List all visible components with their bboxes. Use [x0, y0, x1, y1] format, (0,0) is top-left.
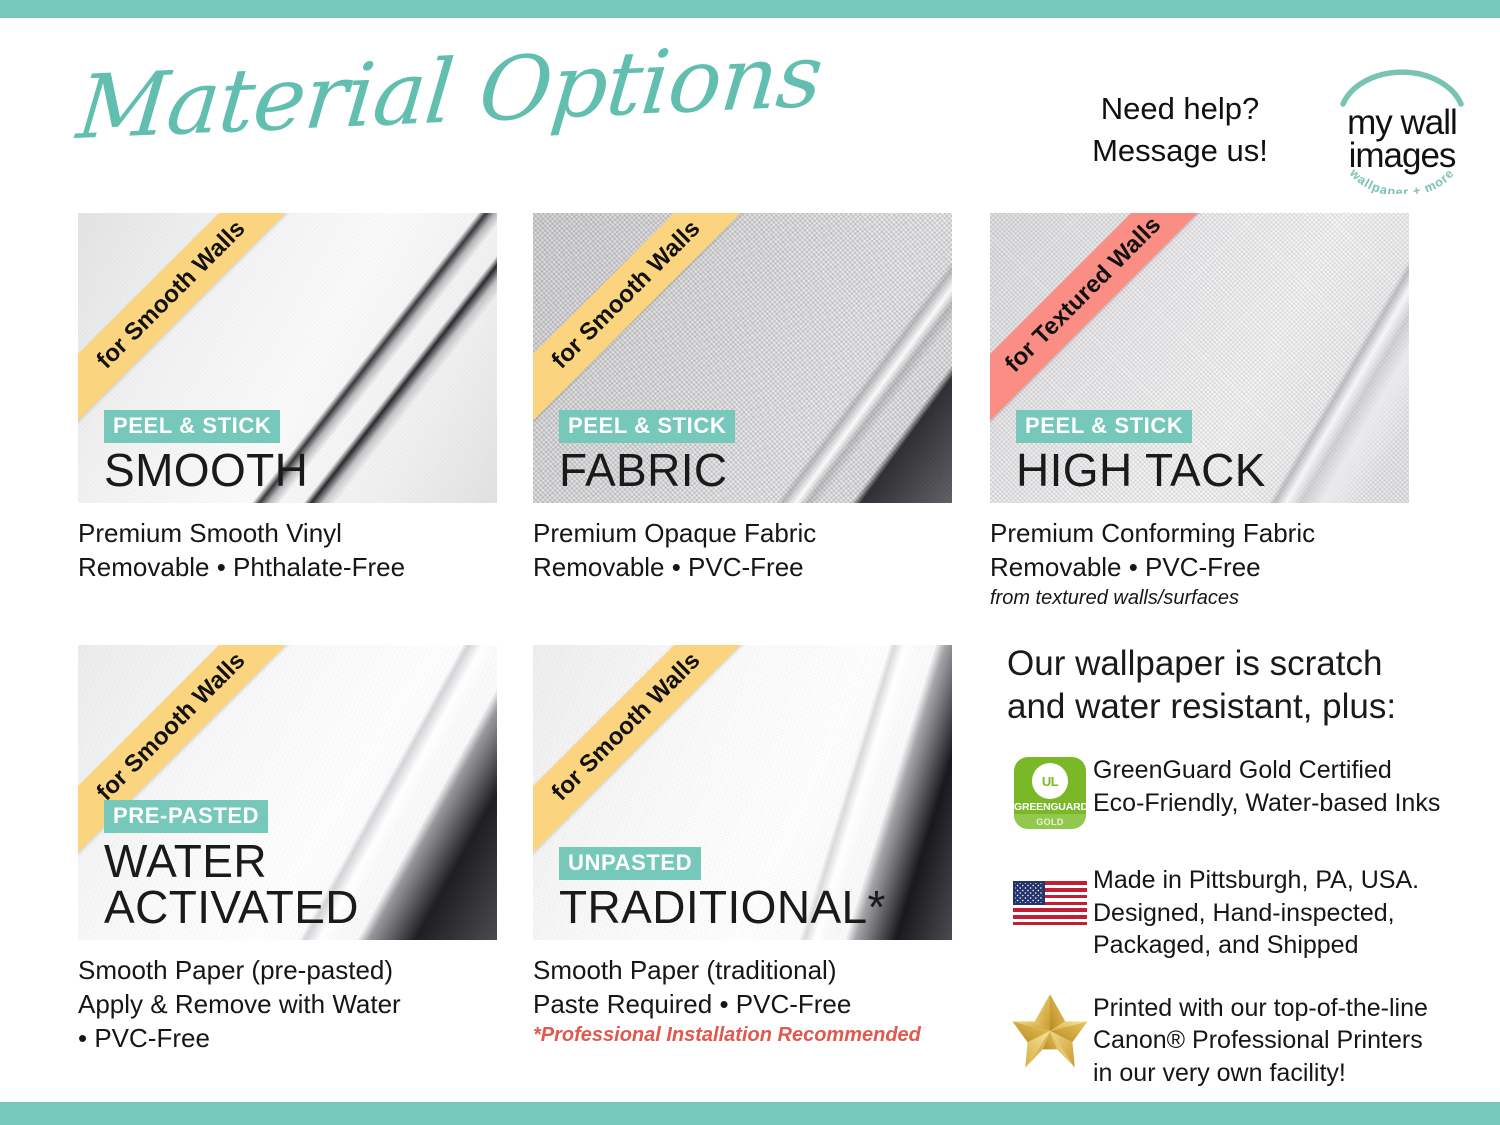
corner-ribbon-label: for Smooth Walls: [91, 215, 251, 375]
features-panel: Our wallpaper is scratch and water resis…: [1007, 643, 1467, 1117]
page-header: Material Options Need help? Message us! …: [0, 18, 1500, 203]
help-line-1: Need help?: [1055, 88, 1305, 130]
card-desc-line-1: Premium Conforming Fabric: [990, 517, 1409, 551]
feature-text: Printed with our top-of-the-line Canon® …: [1093, 990, 1428, 1090]
material-name: WATER ACTIVATED: [104, 838, 359, 930]
card-media-labels: PEEL & STICK HIGH TACK: [1016, 410, 1266, 493]
brand-logo: my wall images wallpaper + more: [1327, 54, 1477, 194]
material-card-fabric[interactable]: for Smooth Walls PEEL & STICK FABRIC Pre…: [533, 213, 952, 585]
feature-line-1: Made in Pittsburgh, PA, USA.: [1093, 864, 1419, 897]
card-desc-line-2: Removable • Phthalate-Free: [78, 551, 497, 585]
us-flag-icon: [1007, 862, 1093, 944]
material-card-smooth[interactable]: for Smooth Walls PEEL & STICK SMOOTH Pre…: [78, 213, 497, 585]
card-swatch-image: for Smooth Walls PEEL & STICK SMOOTH: [78, 213, 497, 503]
material-card-water-activated[interactable]: for Smooth Walls PRE-PASTED WATER ACTIVA…: [78, 645, 497, 1055]
material-name-line-1: WATER: [104, 838, 359, 884]
card-desc-line-1: Premium Smooth Vinyl: [78, 517, 497, 551]
greenguard-tier-label: GOLD: [1036, 817, 1064, 827]
corner-ribbon-label: for Textured Walls: [999, 213, 1166, 378]
corner-ribbon: for Textured Walls: [990, 213, 1216, 428]
feature-item-greenguard: UL GREENGUARD GOLD GreenGuard Gold Certi…: [1007, 752, 1467, 834]
card-swatch-image: for Smooth Walls PEEL & STICK FABRIC: [533, 213, 952, 503]
card-desc-line-1: Premium Opaque Fabric: [533, 517, 952, 551]
corner-ribbon: for Smooth Walls: [533, 645, 759, 860]
card-desc-line-1: Smooth Paper (pre-pasted): [78, 954, 497, 988]
feature-line-3: in our very own facility!: [1093, 1057, 1428, 1090]
card-desc-line-2: Apply & Remove with Water: [78, 988, 497, 1022]
card-desc-line-2: Removable • PVC-Free: [533, 551, 952, 585]
logo-wordmark-line2: images: [1349, 136, 1456, 175]
material-name: HIGH TACK: [1016, 448, 1266, 493]
greenguard-gold-badge-icon: UL GREENGUARD GOLD: [1007, 752, 1093, 834]
feature-line-1: GreenGuard Gold Certified: [1093, 754, 1440, 787]
card-swatch-image: for Smooth Walls UNPASTED TRADITIONAL*: [533, 645, 952, 940]
ul-leaf-icon: UL: [1032, 763, 1068, 799]
logo-arc-icon: [1343, 72, 1461, 104]
card-description: Premium Smooth Vinyl Removable • Phthala…: [78, 517, 497, 585]
gold-star-glyph: [1010, 992, 1090, 1070]
feature-line-1: Printed with our top-of-the-line: [1093, 992, 1428, 1025]
top-accent-bar: [0, 0, 1500, 18]
feature-item-made-in-usa: Made in Pittsburgh, PA, USA. Designed, H…: [1007, 862, 1467, 962]
card-description: Premium Opaque Fabric Removable • PVC-Fr…: [533, 517, 952, 585]
card-desc-line-2: Removable • PVC-Free: [990, 551, 1409, 585]
card-desc-line-3: • PVC-Free: [78, 1022, 497, 1056]
greenguard-tier-band: GOLD: [1014, 814, 1086, 829]
card-swatch-image: for Smooth Walls PRE-PASTED WATER ACTIVA…: [78, 645, 497, 940]
features-heading-line-1: Our wallpaper is scratch: [1007, 643, 1467, 686]
status-badge: PEEL & STICK: [104, 410, 280, 443]
greenguard-label: GREENGUARD: [1014, 801, 1086, 813]
brand-logo-mark: my wall images wallpaper + more: [1327, 54, 1477, 194]
status-badge: PEEL & STICK: [1016, 410, 1192, 443]
material-name: TRADITIONAL*: [559, 885, 886, 930]
feature-line-2: Canon® Professional Printers: [1093, 1024, 1428, 1057]
card-media-labels: PEEL & STICK SMOOTH: [104, 410, 308, 493]
features-heading: Our wallpaper is scratch and water resis…: [1007, 643, 1467, 728]
status-badge: UNPASTED: [559, 847, 701, 880]
material-name: FABRIC: [559, 448, 735, 493]
flag-stars-icon: [1015, 883, 1043, 903]
material-name-line-2: ACTIVATED: [104, 884, 359, 930]
status-badge: PEEL & STICK: [559, 410, 735, 443]
material-name: SMOOTH: [104, 448, 308, 493]
feature-line-2: Designed, Hand-inspected,: [1093, 897, 1419, 930]
card-description: Smooth Paper (pre-pasted) Apply & Remove…: [78, 954, 497, 1055]
card-description: Premium Conforming Fabric Removable • PV…: [990, 517, 1409, 611]
features-heading-line-2: and water resistant, plus:: [1007, 686, 1467, 729]
card-footnote: from textured walls/surfaces: [990, 585, 1409, 611]
status-badge: PRE-PASTED: [104, 800, 268, 833]
corner-ribbon-label: for Smooth Walls: [546, 215, 706, 375]
feature-line-3: Packaged, and Shipped: [1093, 929, 1419, 962]
card-desc-line-1: Smooth Paper (traditional): [533, 954, 952, 988]
card-footnote: *Professional Installation Recommended: [533, 1022, 952, 1048]
card-media-labels: PEEL & STICK FABRIC: [559, 410, 735, 493]
material-card-high-tack[interactable]: for Textured Walls PEEL & STICK HIGH TAC…: [990, 213, 1409, 611]
corner-ribbon-label: for Smooth Walls: [91, 647, 251, 807]
flag-canton: [1013, 881, 1045, 905]
card-media-labels: PRE-PASTED WATER ACTIVATED: [104, 800, 359, 930]
card-media-labels: UNPASTED TRADITIONAL*: [559, 847, 886, 930]
help-line-2: Message us!: [1055, 130, 1305, 172]
feature-text: GreenGuard Gold Certified Eco-Friendly, …: [1093, 752, 1440, 819]
card-desc-line-2: Paste Required • PVC-Free: [533, 988, 952, 1022]
corner-ribbon: for Smooth Walls: [533, 213, 759, 428]
gold-star-icon: [1007, 990, 1093, 1072]
ul-mark-label: UL: [1042, 775, 1058, 788]
feature-line-2: Eco-Friendly, Water-based Inks: [1093, 787, 1440, 820]
card-description: Smooth Paper (traditional) Paste Require…: [533, 954, 952, 1048]
material-card-traditional[interactable]: for Smooth Walls UNPASTED TRADITIONAL* S…: [533, 645, 952, 1048]
feature-text: Made in Pittsburgh, PA, USA. Designed, H…: [1093, 862, 1419, 962]
help-prompt: Need help? Message us!: [1055, 88, 1305, 172]
corner-ribbon: for Smooth Walls: [78, 213, 304, 428]
card-swatch-image: for Textured Walls PEEL & STICK HIGH TAC…: [990, 213, 1409, 503]
feature-item-canon-printers: Printed with our top-of-the-line Canon® …: [1007, 990, 1467, 1090]
corner-ribbon-label: for Smooth Walls: [546, 647, 706, 807]
page-title: Material Options: [73, 24, 826, 159]
